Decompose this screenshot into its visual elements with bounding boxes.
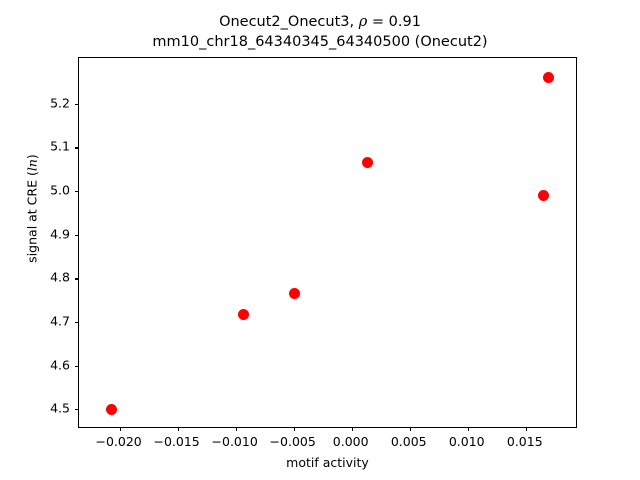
x-tick-label: 0.015 [507, 434, 543, 449]
data-point [106, 404, 117, 415]
x-tick-mark [526, 427, 527, 431]
x-tick-label: 0.005 [391, 434, 427, 449]
data-point [543, 72, 554, 83]
y-axis-label-prefix: signal at CRE ( [25, 171, 40, 263]
y-tick-mark [75, 147, 79, 148]
title-motif-pair: Onecut2_Onecut3, [219, 14, 359, 30]
scatter-plot-figure: Onecut2_Onecut3, ρ = 0.91 mm10_chr18_643… [0, 0, 640, 480]
x-tick-mark [294, 427, 295, 431]
chart-title-line-1: Onecut2_Onecut3, ρ = 0.91 [0, 12, 640, 32]
y-tick-mark [75, 278, 79, 279]
x-tick-label: −0.015 [153, 434, 199, 449]
y-axis-label: signal at CRE (ln) [25, 89, 40, 329]
title-rho-value: = 0.91 [367, 14, 421, 30]
y-axis-label-suffix: ) [25, 154, 40, 159]
x-tick-mark [468, 427, 469, 431]
y-tick-mark [75, 104, 79, 105]
y-tick-mark [75, 366, 79, 367]
y-tick-mark [75, 409, 79, 410]
x-tick-mark [120, 427, 121, 431]
chart-title-line-2: mm10_chr18_64340345_64340500 (Onecut2) [0, 32, 640, 52]
chart-title: Onecut2_Onecut3, ρ = 0.91 mm10_chr18_643… [0, 12, 640, 52]
y-tick-label: 4.6 [30, 357, 70, 372]
x-tick-mark [178, 427, 179, 431]
data-point [538, 190, 549, 201]
data-point [238, 309, 249, 320]
data-point [289, 288, 300, 299]
x-tick-mark [410, 427, 411, 431]
x-tick-label: 0.000 [333, 434, 369, 449]
x-tick-mark [352, 427, 353, 431]
y-tick-label: 4.5 [30, 401, 70, 416]
x-tick-label: 0.010 [449, 434, 485, 449]
plot-axes-frame [78, 57, 577, 428]
x-axis-label: motif activity [78, 455, 577, 470]
y-tick-mark [75, 322, 79, 323]
x-tick-label: −0.005 [270, 434, 316, 449]
data-point [362, 157, 373, 168]
x-tick-mark [236, 427, 237, 431]
y-tick-mark [75, 235, 79, 236]
plot-data-area [79, 58, 576, 427]
y-tick-mark [75, 191, 79, 192]
x-tick-label: −0.020 [95, 434, 141, 449]
title-rho-symbol: ρ [359, 14, 368, 30]
x-tick-label: −0.010 [212, 434, 258, 449]
y-axis-label-ln: ln [25, 159, 40, 171]
